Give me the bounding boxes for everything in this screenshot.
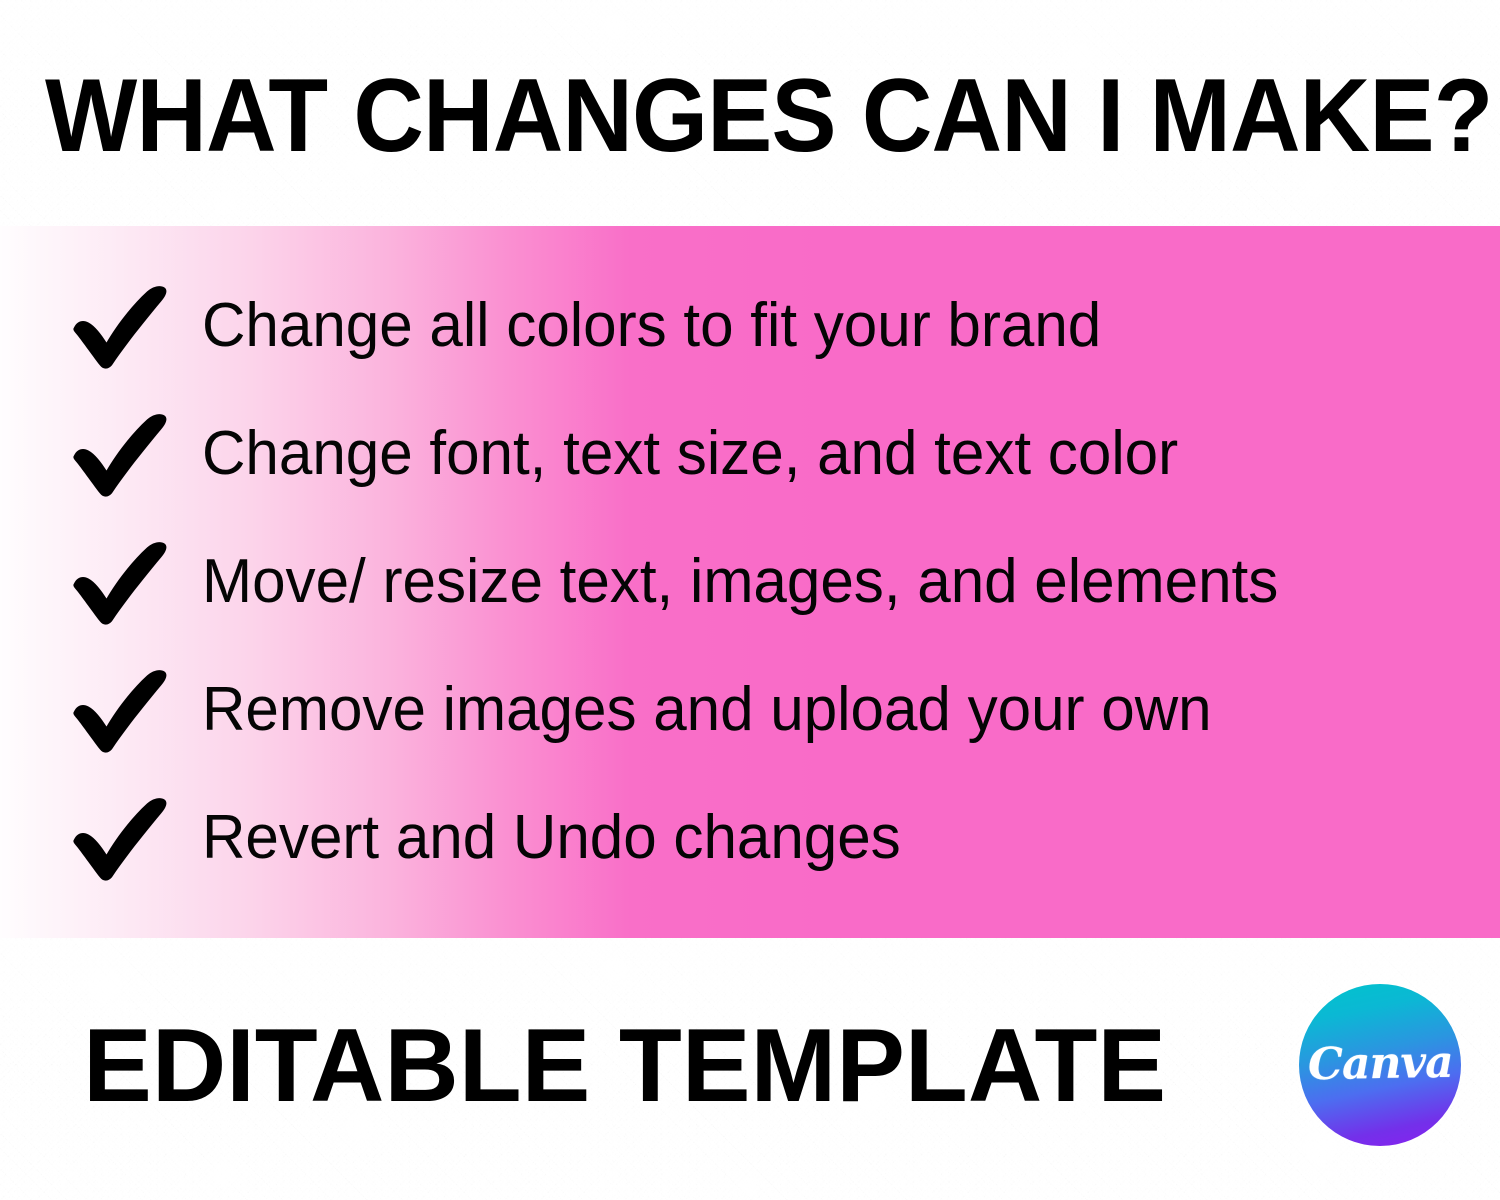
checkmark-icon [68, 536, 172, 628]
page-title: WHAT CHANGES CAN I MAKE? [45, 64, 1455, 168]
checkmark-icon [68, 280, 172, 372]
list-item-label: Revert and Undo changes [202, 805, 901, 870]
list-item: Remove images and upload your own [0, 646, 1500, 774]
list-item: Change font, text size, and text color [0, 390, 1500, 518]
list-item-label: Move/ resize text, images, and elements [202, 549, 1278, 614]
list-item-label: Remove images and upload your own [202, 677, 1212, 742]
canva-wordmark: Canva [1307, 1041, 1452, 1088]
checkmark-icon [68, 408, 172, 500]
list-item: Change all colors to fit your brand [0, 262, 1500, 390]
checkmark-icon [68, 664, 172, 756]
list-item: Move/ resize text, images, and elements [0, 518, 1500, 646]
checkmark-icon [68, 792, 172, 884]
footer-title: EDITABLE TEMPLATE [0, 1014, 1287, 1118]
poster-canvas: WHAT CHANGES CAN I MAKE? Change all colo… [0, 0, 1500, 1200]
list-item-label: Change font, text size, and text color [202, 421, 1178, 486]
list-item: Revert and Undo changes [0, 774, 1500, 902]
list-item-label: Change all colors to fit your brand [202, 293, 1101, 358]
feature-checklist: Change all colors to fit your brand Chan… [0, 226, 1500, 938]
canva-logo-badge: Canva [1299, 984, 1461, 1146]
